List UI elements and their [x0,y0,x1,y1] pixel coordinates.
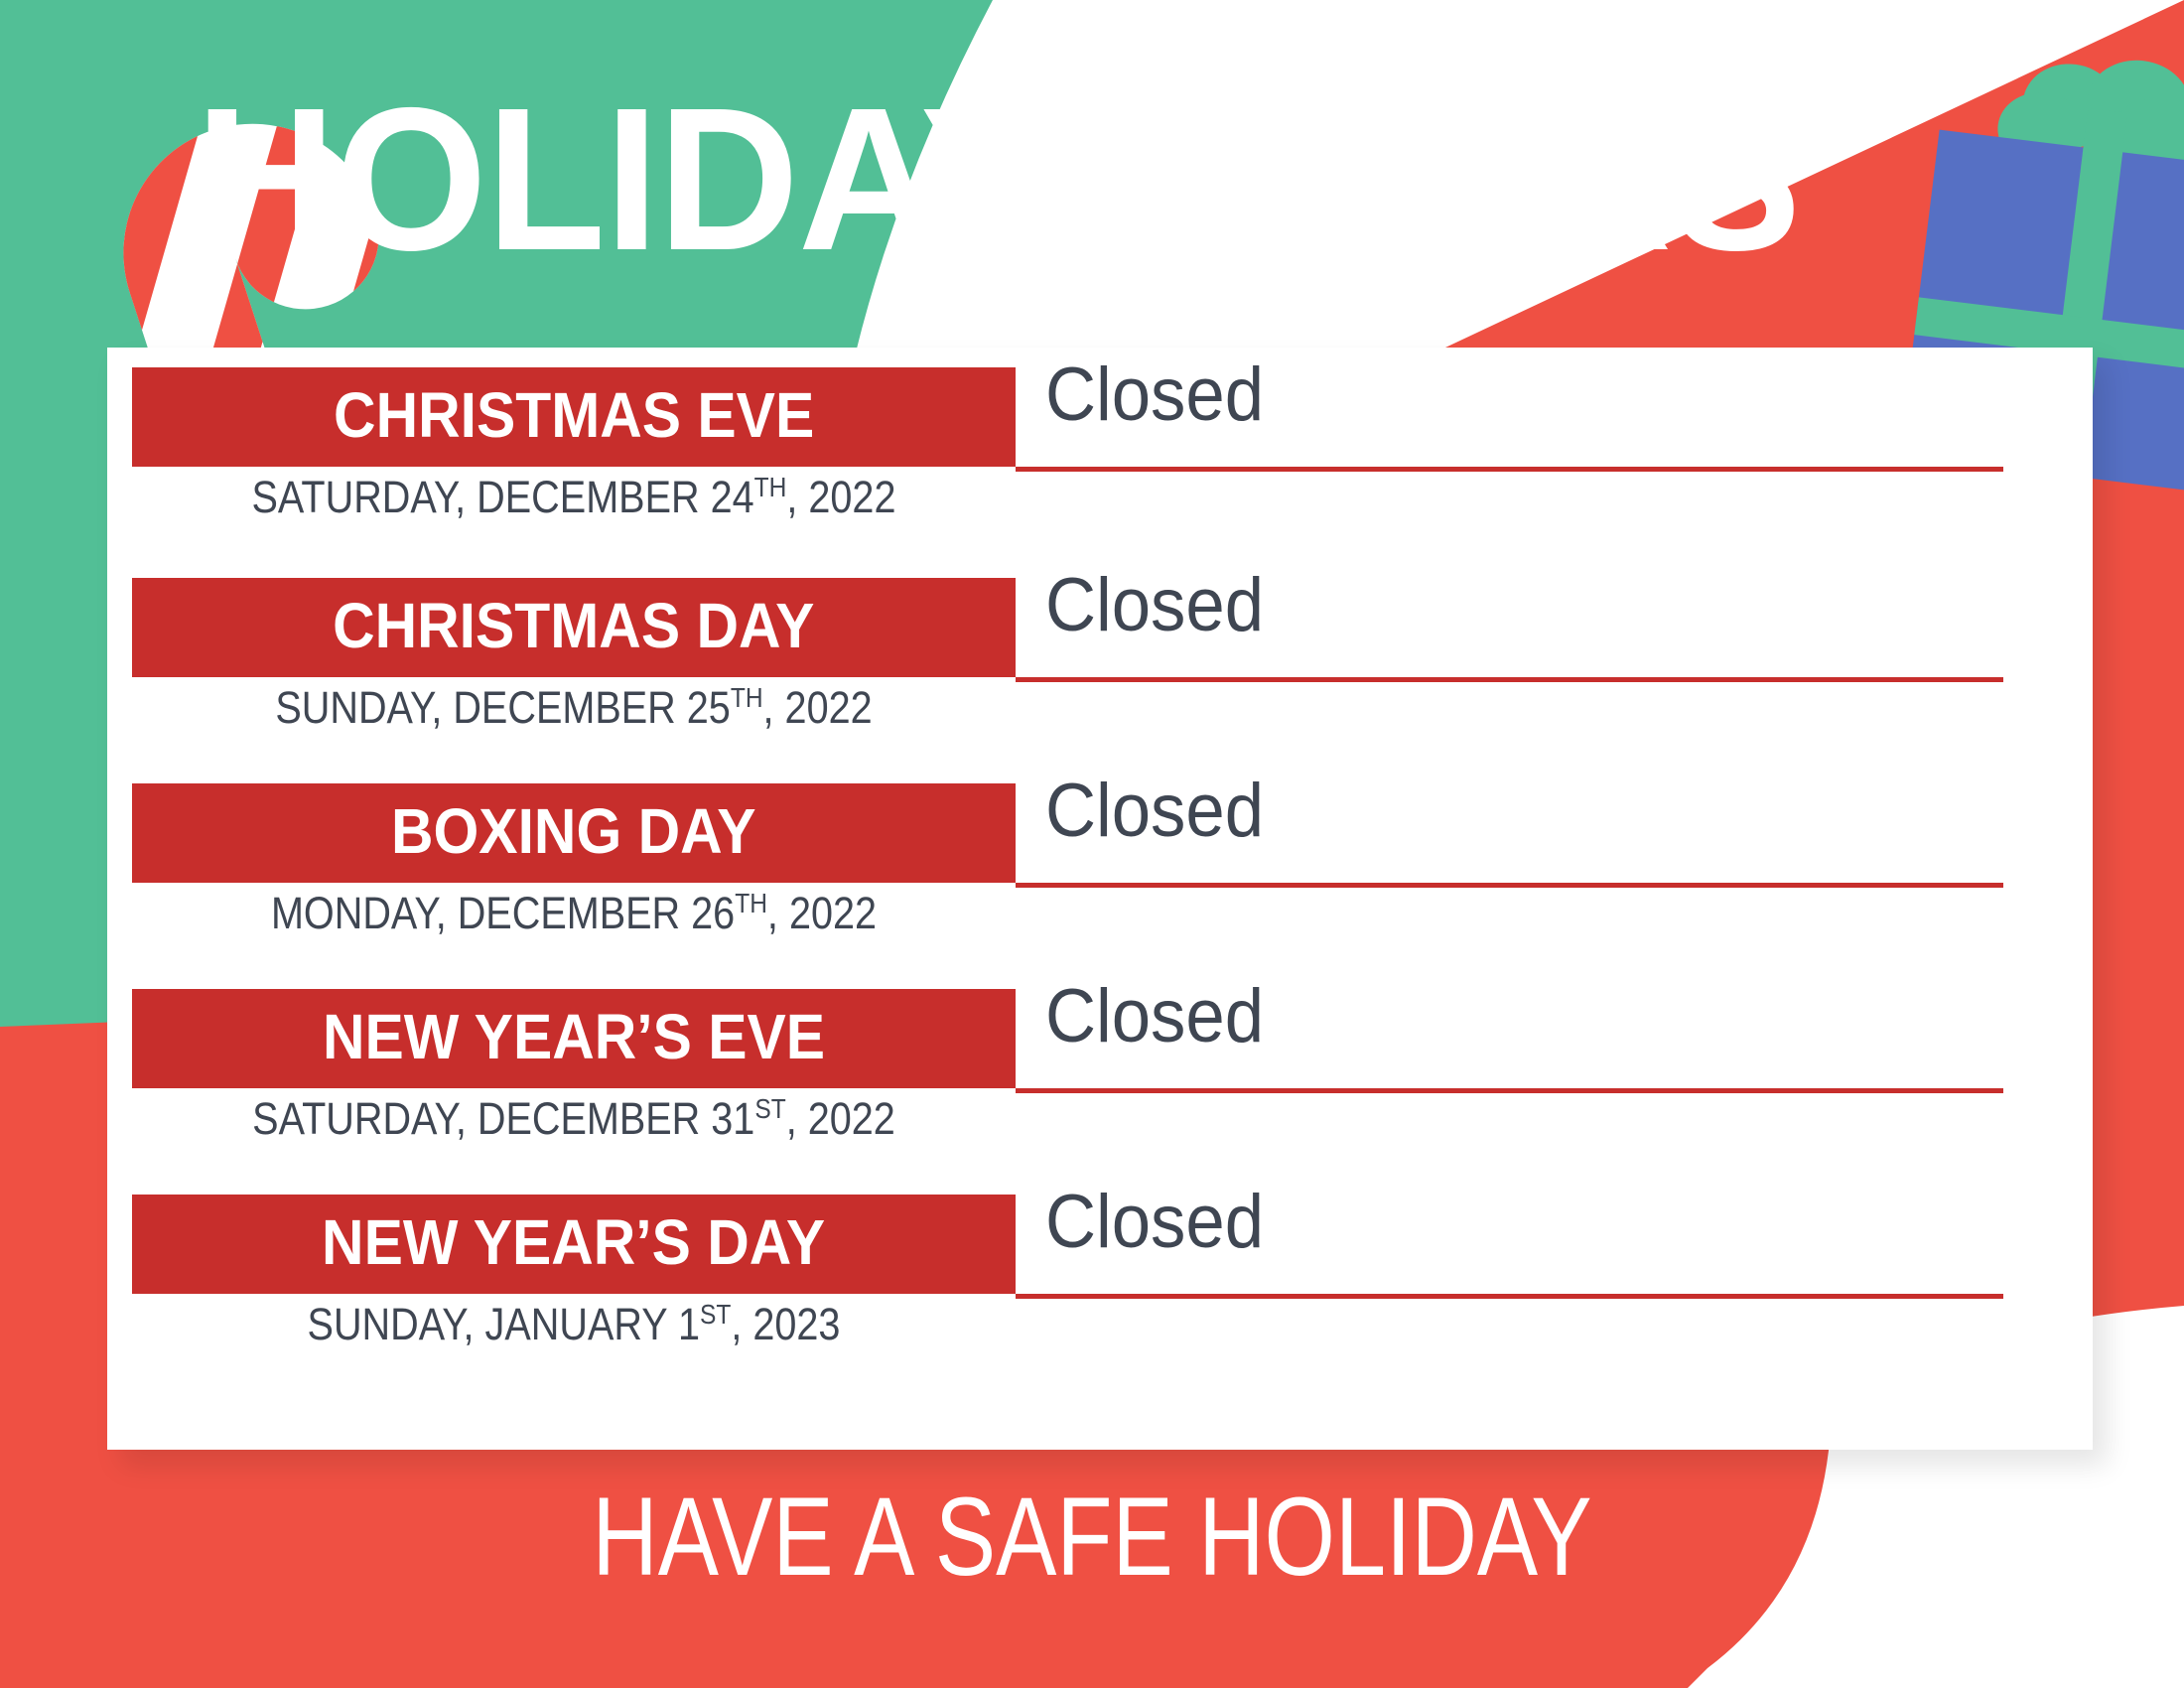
day-date-ordinal: TH [735,888,767,918]
day-band: BOXING DAY [132,783,1016,883]
day-band: NEW YEAR’S DAY [132,1195,1016,1294]
status-badge: Closed [1045,774,1264,849]
day-name: CHRISTMAS EVE [334,383,814,447]
day-band: NEW YEAR’S EVE [132,989,1016,1088]
day-date-prefix: MONDAY, DECEMBER 26 [271,888,735,938]
day-date: SUNDAY, DECEMBER 25TH, 2022 [185,685,962,730]
day-date-prefix: SUNDAY, JANUARY 1 [308,1299,700,1349]
page-title: HOLIDAY HOURS [40,77,1956,281]
status-divider [1016,1088,2003,1093]
day-date-suffix: , 2022 [786,1093,895,1144]
status-divider [1016,677,2003,682]
status-badge: Closed [1045,357,1264,433]
status-divider [1016,467,2003,472]
hours-row-list: CHRISTMAS EVE SATURDAY, DECEMBER 24TH, 2… [107,348,2093,1380]
day-date-suffix: , 2022 [767,888,877,938]
hours-row: CHRISTMAS EVE SATURDAY, DECEMBER 24TH, 2… [107,348,2093,558]
day-date-prefix: SUNDAY, DECEMBER 25 [275,682,730,733]
status-divider [1016,883,2003,888]
day-date: SUNDAY, JANUARY 1ST, 2023 [185,1302,962,1346]
day-date-suffix: , 2022 [786,472,895,522]
hours-row: NEW YEAR’S DAY SUNDAY, JANUARY 1ST, 2023… [107,1175,2093,1380]
day-name: NEW YEAR’S EVE [323,1005,825,1068]
day-date-ordinal: ST [754,1093,785,1124]
day-date: SATURDAY, DECEMBER 24TH, 2022 [185,475,962,519]
status-badge: Closed [1045,979,1264,1055]
day-date-ordinal: TH [731,682,763,713]
day-band: CHRISTMAS EVE [132,367,1016,467]
day-date: SATURDAY, DECEMBER 31ST, 2022 [185,1096,962,1141]
day-band: CHRISTMAS DAY [132,578,1016,677]
hours-card: CHRISTMAS EVE SATURDAY, DECEMBER 24TH, 2… [107,348,2093,1450]
status-divider [1016,1294,2003,1299]
day-date-prefix: SATURDAY, DECEMBER 31 [252,1093,754,1144]
day-name: BOXING DAY [391,799,756,863]
hours-row: BOXING DAY MONDAY, DECEMBER 26TH, 2022 C… [107,764,2093,969]
footer-message: HAVE A SAFE HOLIDAY [197,1481,1987,1593]
day-date-ordinal: TH [754,472,787,502]
status-badge: Closed [1045,1185,1264,1260]
status-badge: Closed [1045,568,1264,643]
hours-row: NEW YEAR’S EVE SATURDAY, DECEMBER 31ST, … [107,969,2093,1175]
hours-row: CHRISTMAS DAY SUNDAY, DECEMBER 25TH, 202… [107,558,2093,764]
day-name: NEW YEAR’S DAY [322,1210,825,1274]
day-date-ordinal: ST [700,1299,731,1330]
holiday-hours-poster: HOLIDAY HOURS CHRISTMAS EVE SATURDAY, DE… [0,0,2184,1688]
day-name: CHRISTMAS DAY [333,594,814,657]
day-date: MONDAY, DECEMBER 26TH, 2022 [185,891,962,935]
day-date-suffix: , 2022 [763,682,873,733]
day-date-suffix: , 2023 [731,1299,840,1349]
day-date-prefix: SATURDAY, DECEMBER 24 [252,472,754,522]
